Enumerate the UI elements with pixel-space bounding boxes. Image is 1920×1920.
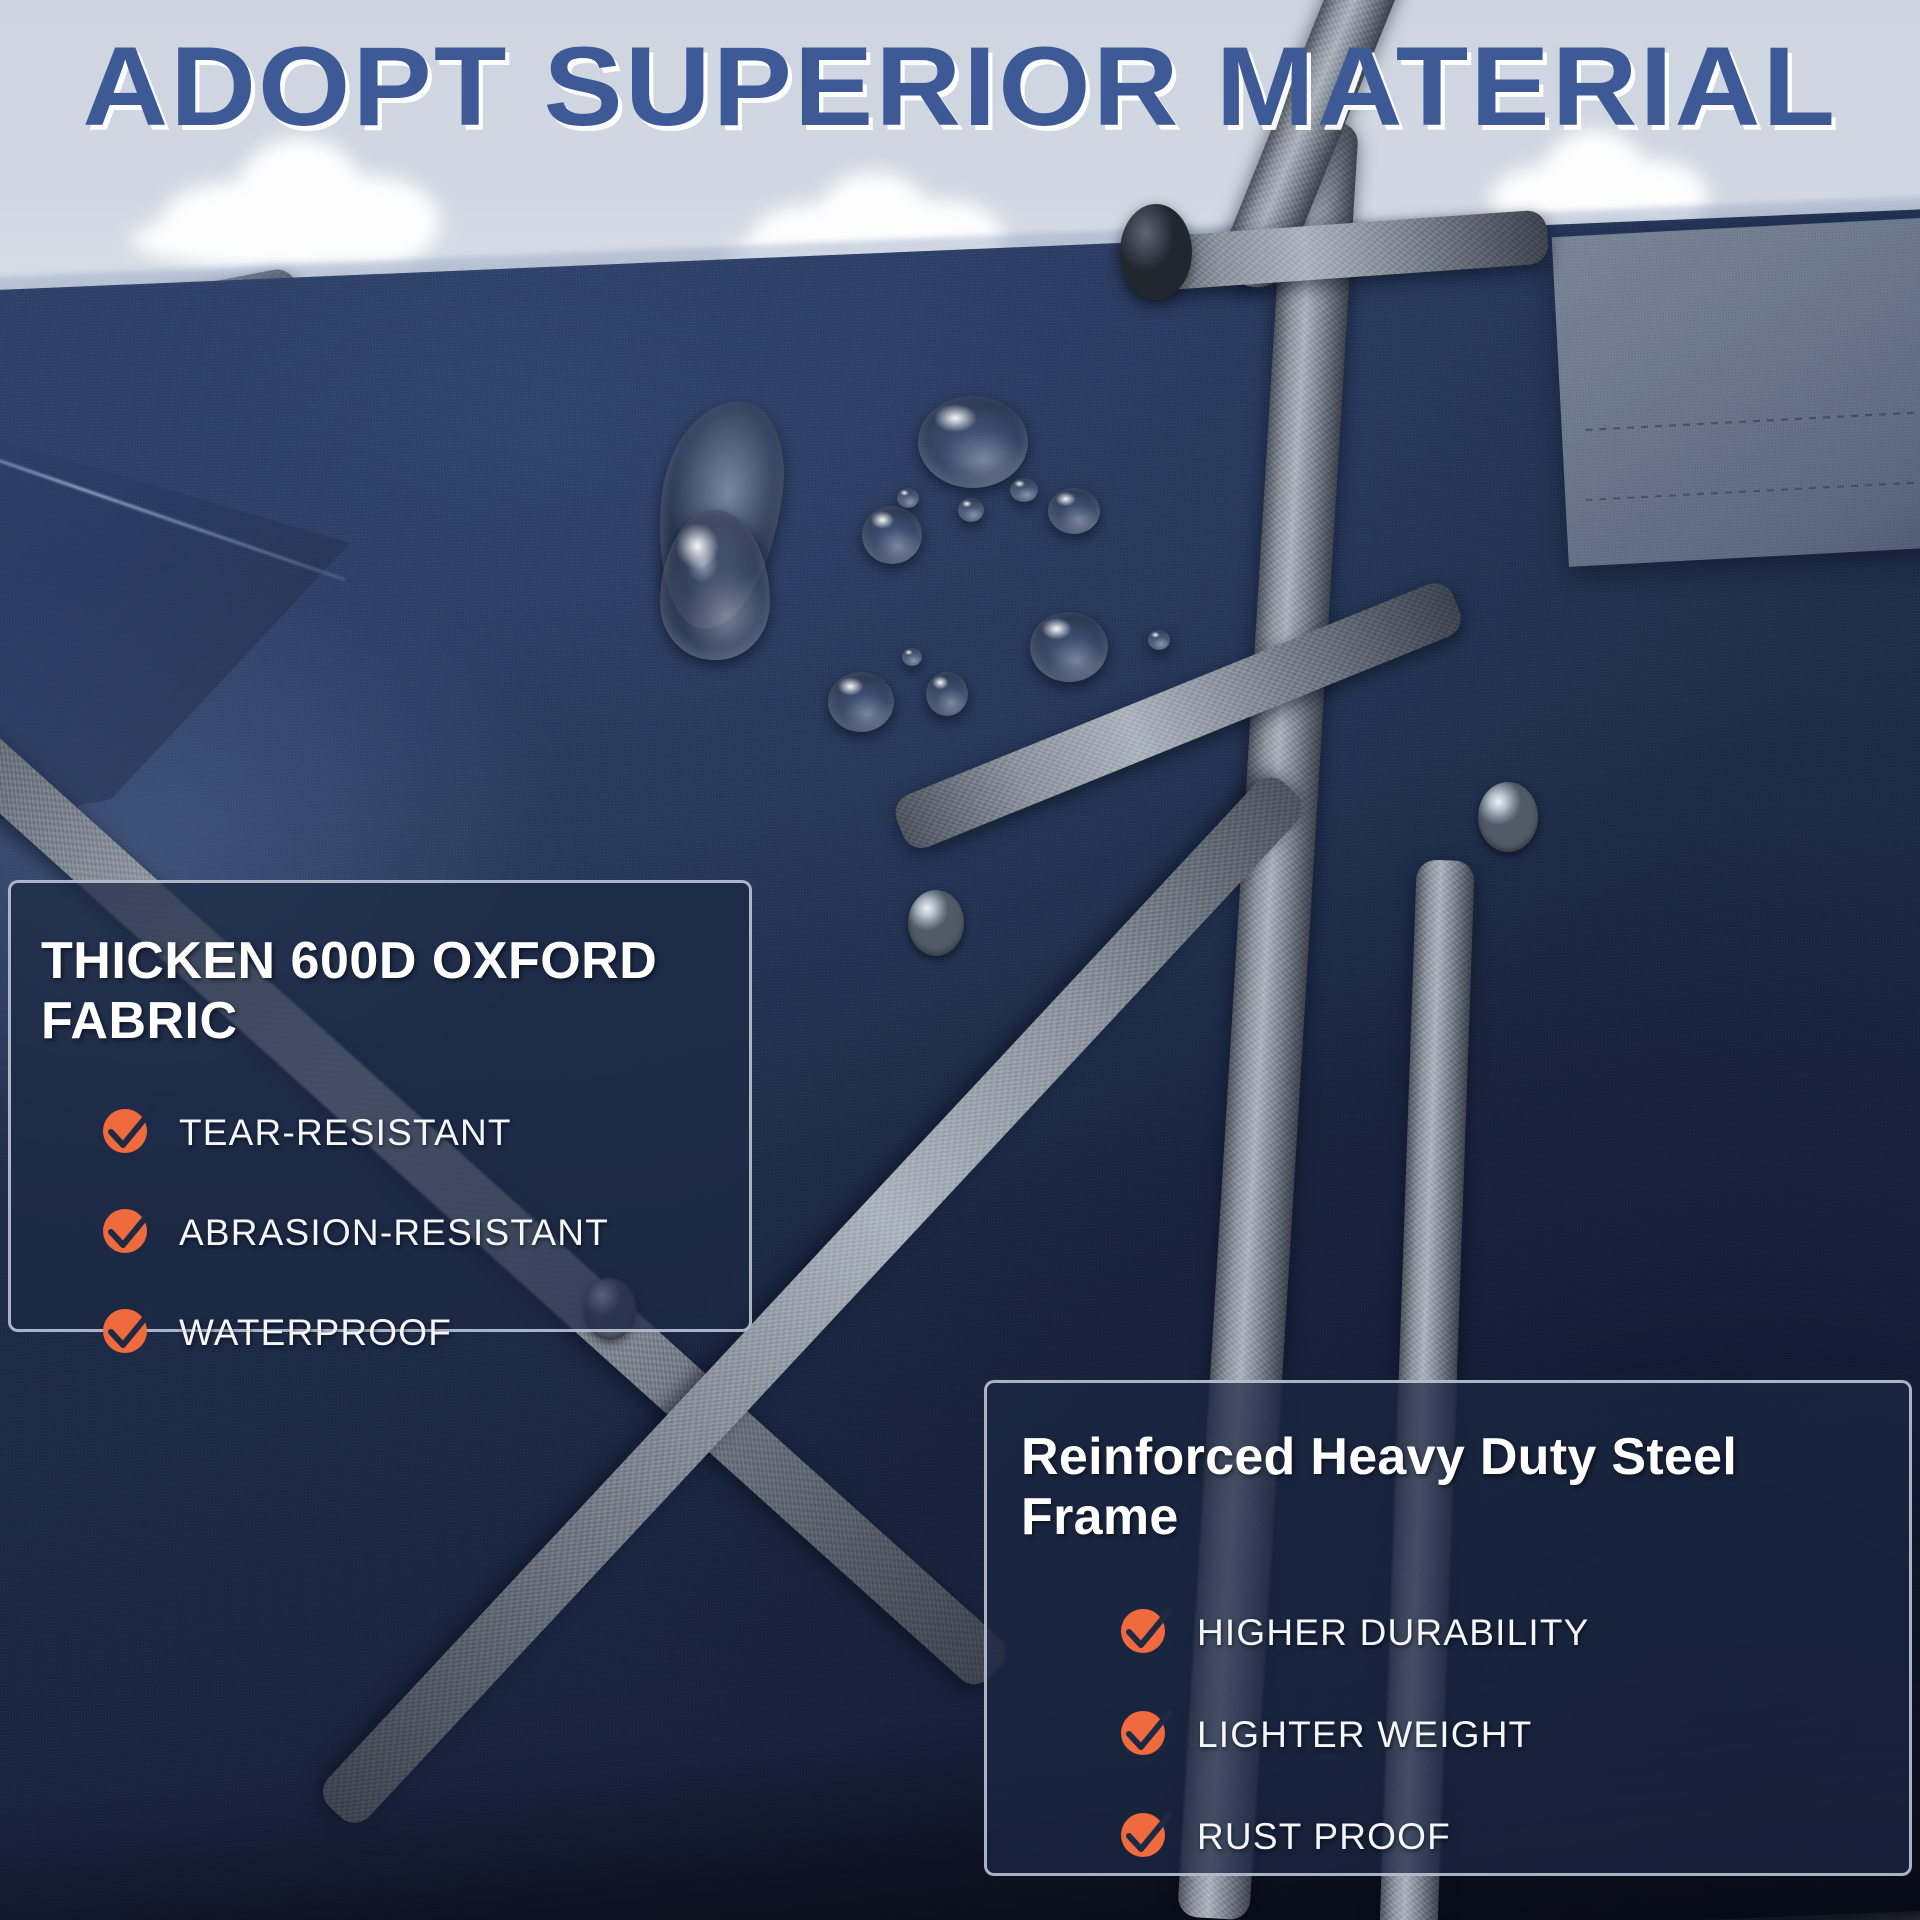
check-circle-icon [1121,1813,1169,1861]
feature-label: LIGHTER WEIGHT [1197,1714,1532,1756]
water-droplet-lower-1 [828,672,894,732]
cloud-left [120,130,450,270]
flap-weave-texture [1552,213,1920,567]
page-title-text: ADOPT SUPERIOR MATERIAL [83,22,1838,151]
brace-rivet-left [908,890,964,956]
list-item: WATERPROOF [103,1309,749,1357]
water-droplet-top [918,396,1028,488]
frame-info-panel: Reinforced Heavy Duty Steel Frame HIGHER… [984,1380,1912,1876]
check-circle-icon [1121,1609,1169,1657]
fabric-feature-list: TEAR-RESISTANT ABRASION-RESISTANT [103,1109,749,1357]
check-circle-icon [103,1109,151,1157]
page-title: ADOPT SUPERIOR MATERIAL [10,22,1910,151]
list-item: HIGHER DURABILITY [1121,1609,1909,1657]
frame-feature-list: HIGHER DURABILITY LIGHTER WEIGHT [1121,1609,1909,1861]
water-droplet-lower-2 [926,672,968,716]
list-item: RUST PROOF [1121,1813,1909,1861]
list-item: ABRASION-RESISTANT [103,1209,749,1257]
fabric-panel-heading: THICKEN 600D OXFORD FABRIC [41,931,749,1051]
fabric-flap-right [1552,213,1920,567]
water-droplet-edge [1148,630,1170,650]
list-item: LIGHTER WEIGHT [1121,1711,1909,1759]
water-droplet-lower-3 [902,648,922,666]
fabric-info-panel: THICKEN 600D OXFORD FABRIC TEAR-RESISTAN… [8,880,752,1332]
list-item: TEAR-RESISTANT [103,1109,749,1157]
frame-panel-heading: Reinforced Heavy Duty Steel Frame [1021,1427,1909,1547]
brace-rivet-right [1478,782,1538,852]
feature-label: WATERPROOF [179,1312,452,1354]
feature-label: TEAR-RESISTANT [179,1112,512,1154]
feature-label: RUST PROOF [1197,1816,1451,1858]
water-droplet-small-1 [1010,478,1038,502]
water-droplet-mid [862,506,922,564]
feature-label: ABRASION-RESISTANT [179,1212,609,1254]
product-feature-banner: ADOPT SUPERIOR MATERIAL THICKEN 600D OXF… [0,0,1920,1920]
check-circle-icon [103,1309,151,1357]
feature-label: HIGHER DURABILITY [1197,1612,1590,1654]
check-circle-icon [1121,1711,1169,1759]
water-droplet-small-4 [958,498,984,522]
water-droplet-small-2 [1048,488,1100,534]
steel-tube-endcap [1120,204,1192,300]
check-circle-icon [103,1209,151,1257]
water-droplet-right [1030,612,1108,682]
water-droplet-small-3 [897,488,919,508]
